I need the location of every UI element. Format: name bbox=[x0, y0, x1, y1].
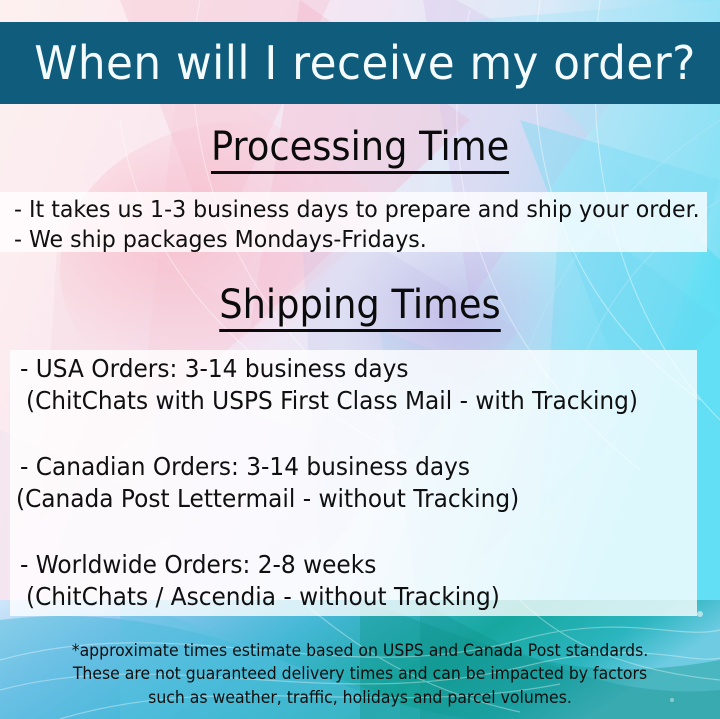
header-banner: When will I receive my order? bbox=[0, 22, 720, 104]
content-area: Processing Time - It takes us 1-3 busine… bbox=[0, 0, 720, 719]
shipping-worldwide-orders-line: - Worldwide Orders: 2-8 weeks bbox=[20, 552, 376, 577]
section-heading-processing-time-label: Processing Time bbox=[211, 127, 509, 174]
shipping-canadian-orders-line: - Canadian Orders: 3-14 business days bbox=[20, 454, 470, 479]
footnote: *approximate times estimate based on USP… bbox=[0, 639, 720, 709]
shipping-usa-orders-line: - USA Orders: 3-14 business days bbox=[20, 356, 408, 381]
footnote-line-3: such as weather, traffic, holidays and p… bbox=[18, 686, 702, 709]
shipping-canadian-carrier-line: (Canada Post Lettermail - without Tracki… bbox=[16, 486, 519, 511]
processing-line-2: - We ship packages Mondays-Fridays. bbox=[14, 228, 427, 252]
section-heading-shipping-times-label: Shipping Times bbox=[219, 285, 500, 332]
section-heading-shipping-times: Shipping Times bbox=[0, 285, 720, 332]
shipping-worldwide-carrier-line: (ChitChats / Ascendia - without Tracking… bbox=[26, 584, 500, 609]
shipping-info-graphic: When will I receive my order? Processing… bbox=[0, 0, 720, 719]
footnote-line-1: *approximate times estimate based on USP… bbox=[18, 639, 702, 662]
page-title: When will I receive my order? bbox=[0, 40, 696, 86]
section-heading-processing-time: Processing Time bbox=[0, 127, 720, 174]
shipping-usa-carrier-line: (ChitChats with USPS First Class Mail - … bbox=[26, 388, 638, 413]
footnote-line-2: These are not guaranteed delivery times … bbox=[18, 662, 702, 685]
processing-line-1: - It takes us 1-3 business days to prepa… bbox=[14, 198, 700, 222]
